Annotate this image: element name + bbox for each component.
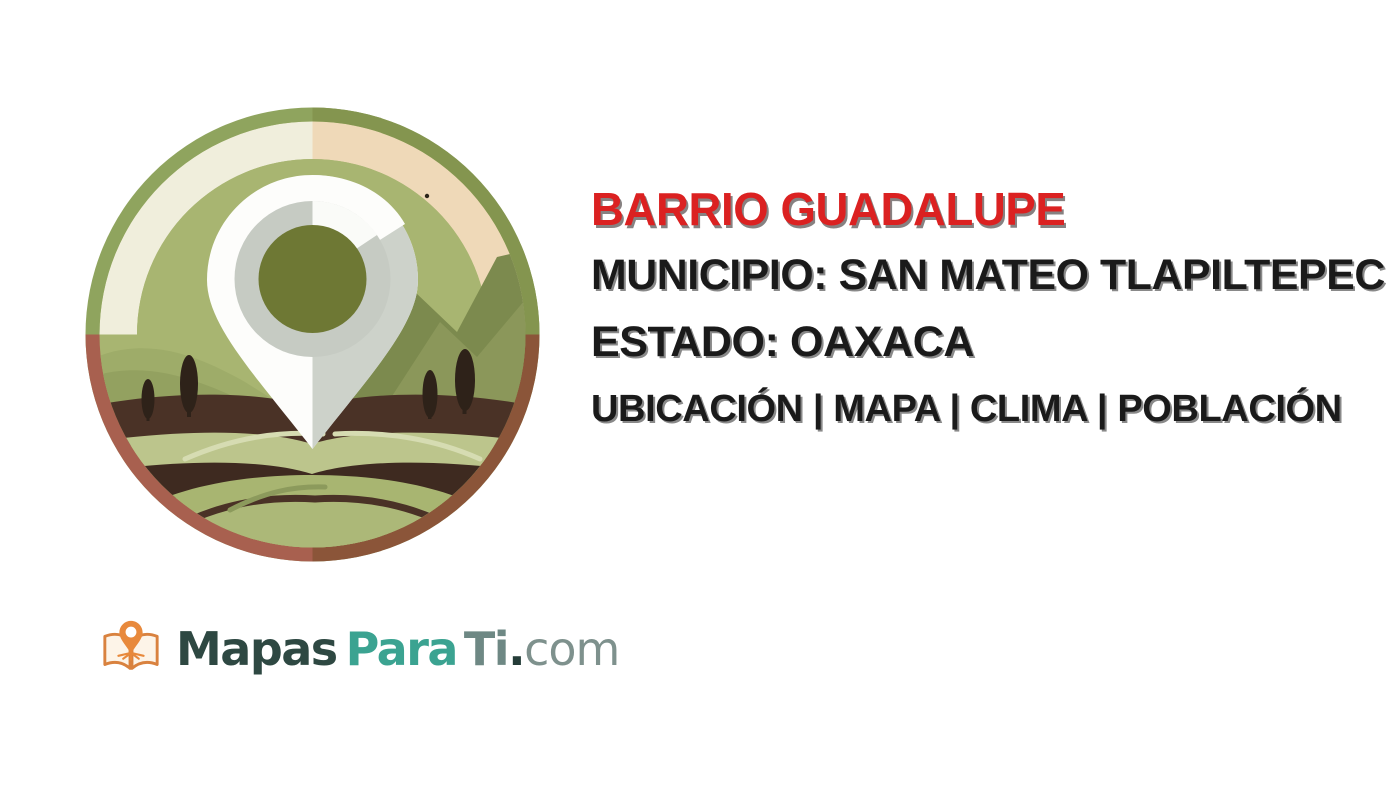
wordmark-dot: .	[508, 626, 524, 672]
page-title: BARRIO GUADALUPE	[591, 186, 1383, 232]
tree-trunk	[463, 380, 467, 414]
tree-trunk	[147, 399, 150, 421]
book-pin-hole	[126, 627, 137, 638]
wordmark-mapas: Mapas	[176, 626, 337, 672]
wordmark-text: Mapas Para Ti . com	[176, 626, 619, 672]
wordmark-para: Para	[346, 626, 457, 672]
page-root: BARRIO GUADALUPE MUNICIPIO: SAN MATEO TL…	[0, 0, 1400, 786]
section-links[interactable]: UBICACIÓN | MAPA | CLIMA | POBLACIÓN	[591, 390, 1391, 428]
tree-trunk	[187, 384, 191, 417]
speck-artifact	[425, 194, 429, 198]
info-block: BARRIO GUADALUPE MUNICIPIO: SAN MATEO TL…	[591, 186, 1391, 428]
estado-line: ESTADO: OAXACA	[591, 321, 1391, 364]
open-book-with-pin-icon	[100, 618, 162, 680]
logo-badge-illustration	[85, 107, 540, 562]
municipio-line: MUNICIPIO: SAN MATEO TLAPILTEPEC	[591, 254, 1387, 297]
wordmark-com: com	[524, 626, 619, 672]
tree-trunk	[428, 394, 432, 419]
pin-center-hole	[259, 225, 367, 333]
wordmark-ti: Ti	[464, 626, 508, 672]
logo-badge	[85, 107, 540, 562]
brand-wordmark[interactable]: Mapas Para Ti . com	[100, 618, 619, 680]
